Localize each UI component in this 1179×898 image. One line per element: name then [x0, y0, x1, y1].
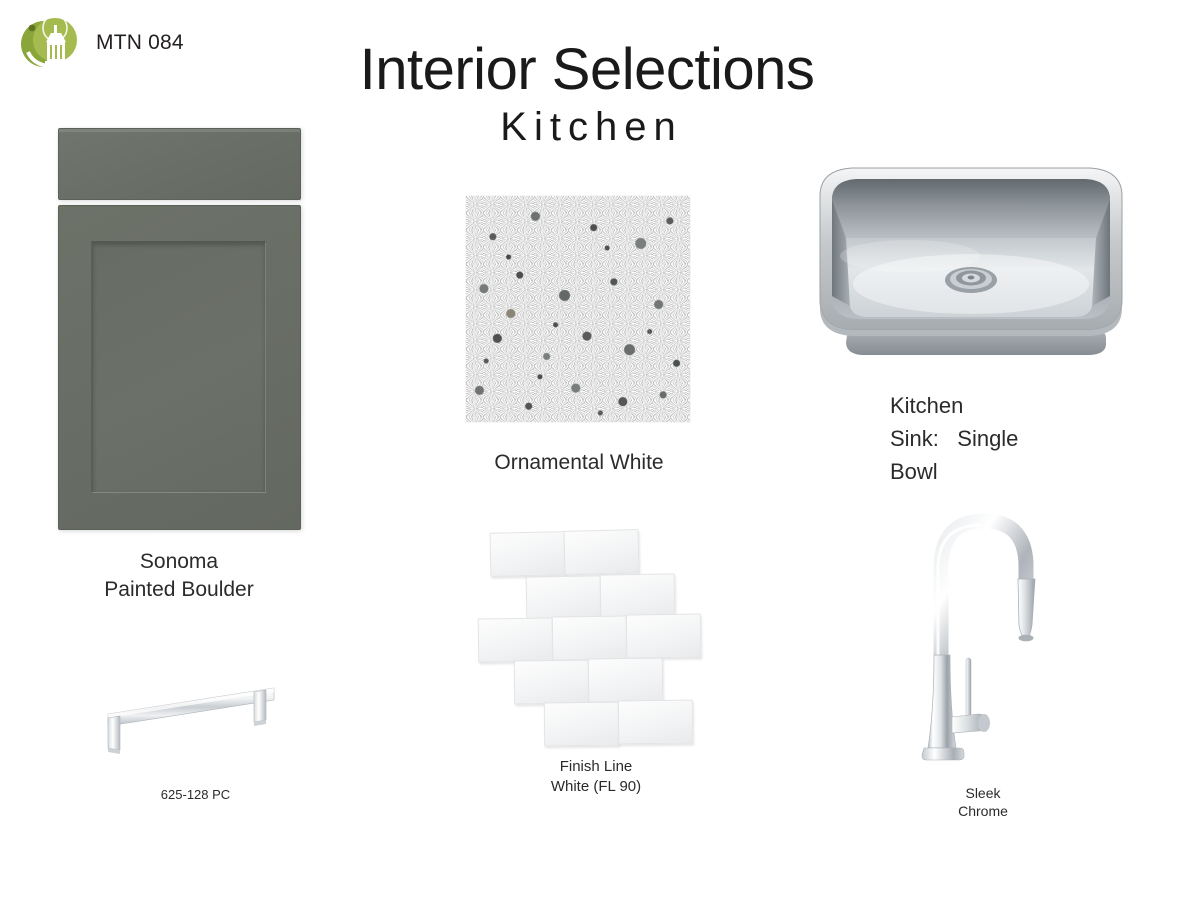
- project-code: MTN 084: [96, 31, 184, 55]
- faucet-caption-line1: Sleek: [925, 784, 1041, 802]
- cabinet-caption: Sonoma Painted Boulder: [53, 548, 305, 603]
- kitchen-sink-sample: [790, 158, 1148, 370]
- tile-piece: [563, 529, 639, 575]
- pull-caption-line1: 625-128 PC: [103, 786, 288, 803]
- tile-caption-line1: Finish Line: [500, 757, 692, 777]
- subway-tile-sample: [476, 528, 726, 743]
- granite-countertop-swatch: [466, 196, 690, 422]
- cabinet-recessed-panel: [91, 241, 266, 493]
- sink-caption: Kitchen Sink: Single Bowl: [890, 389, 1100, 488]
- brand-block: MTN 084: [14, 8, 184, 78]
- tile-piece: [552, 615, 628, 660]
- cabinet-caption-line2: Painted Boulder: [53, 576, 305, 604]
- tile-caption-line2: White (FL 90): [500, 777, 692, 797]
- pull-caption: 625-128 PC: [103, 786, 288, 803]
- sink-caption-line2: Sink:: [890, 426, 939, 451]
- cabinet-caption-line1: Sonoma: [53, 548, 305, 576]
- cabinet-drawer-front: [58, 128, 301, 200]
- tile-piece: [618, 700, 693, 745]
- cabinet-pull-sample: [88, 676, 303, 756]
- tile-piece: [526, 575, 602, 620]
- granite-caption-line1: Ornamental White: [448, 449, 710, 477]
- tile-caption: Finish Line White (FL 90): [500, 757, 692, 797]
- sink-caption-line2-row: Sink: Single: [890, 422, 1100, 455]
- tile-piece: [626, 613, 702, 658]
- cabinet-door-sample: [58, 128, 301, 530]
- interior-selections-slide: MTN 084 Interior Selections Kitchen Sono…: [0, 0, 1179, 898]
- tile-piece: [514, 660, 589, 705]
- faucet-caption-line2: Chrome: [925, 802, 1041, 820]
- tile-piece: [588, 658, 663, 703]
- lantern-logo-icon: [14, 8, 84, 78]
- sink-caption-line3: Bowl: [890, 455, 1100, 488]
- sink-caption-line2b: Single: [957, 426, 1018, 451]
- tile-piece: [544, 702, 619, 747]
- tile-piece: [490, 531, 566, 577]
- sink-caption-line1: Kitchen: [890, 389, 1100, 422]
- tile-piece: [600, 573, 676, 618]
- cabinet-door-front: [58, 205, 301, 530]
- faucet-caption: Sleek Chrome: [925, 784, 1041, 821]
- tile-piece: [478, 617, 554, 662]
- kitchen-faucet-sample: [908, 505, 1058, 770]
- granite-caption: Ornamental White: [448, 449, 710, 477]
